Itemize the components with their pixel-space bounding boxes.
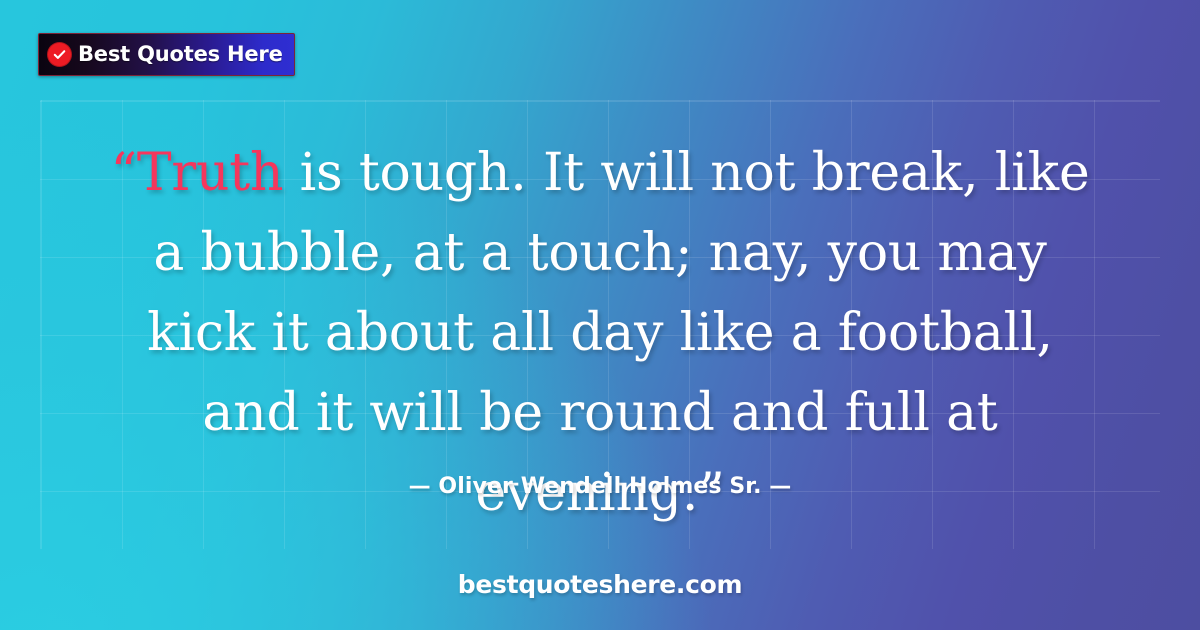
quote-open-mark: “ <box>110 143 136 203</box>
quote-card: Best Quotes Here “Truth is tough. It wil… <box>0 0 1200 630</box>
quote-text: “Truth is tough. It will not break, like… <box>100 133 1100 533</box>
quote-attribution: — Oliver Wendell Holmes Sr. — <box>0 474 1200 499</box>
site-url-footer: bestquoteshere.com <box>0 570 1200 599</box>
site-logo-label: Best Quotes Here <box>78 44 283 65</box>
quote-block: “Truth is tough. It will not break, like… <box>0 133 1200 533</box>
quote-body-text: is tough. It will not break, like a bubb… <box>147 143 1089 523</box>
site-logo-badge[interactable]: Best Quotes Here <box>38 33 295 76</box>
quote-highlight-word: Truth <box>137 143 283 203</box>
check-circle-icon <box>47 42 72 67</box>
